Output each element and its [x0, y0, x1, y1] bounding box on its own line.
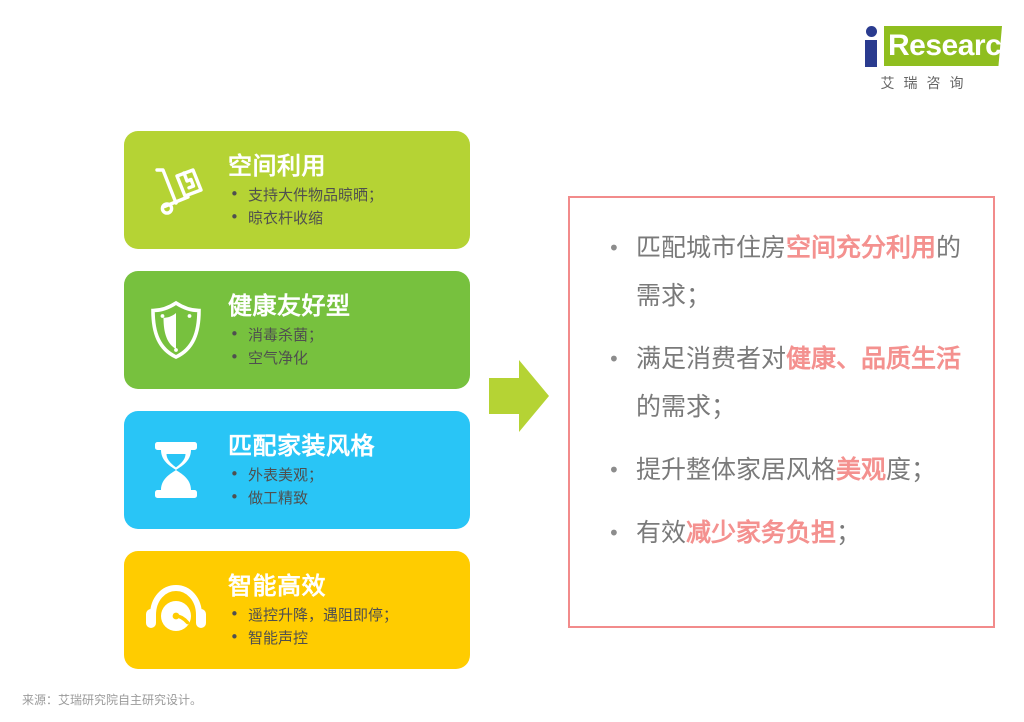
hand-truck-icon	[124, 131, 228, 249]
logo-wordmark: Research	[888, 28, 1019, 64]
feature-card-title: 健康友好型	[228, 291, 460, 321]
logo-chinese-name: 艾瑞咨询	[842, 73, 1002, 93]
list-item: 空气净化	[228, 347, 460, 370]
list-item: 遥控升降，遇阻即停；	[228, 604, 460, 627]
body-text: 匹配城市住房	[636, 233, 786, 262]
body-text: 的需求；	[636, 392, 736, 421]
feature-card-bullets: 遥控升降，遇阻即停； 智能声控	[228, 604, 460, 650]
feature-card-body: 空间利用 支持大件物品晾晒； 晾衣杆收缩	[228, 151, 470, 230]
body-text: 有效	[636, 518, 686, 547]
list-item: 有效减少家务负担；	[592, 509, 975, 557]
right-arrow-icon	[489, 360, 549, 432]
highlight-text: 减少家务负担	[686, 518, 836, 547]
list-item: 智能声控	[228, 627, 460, 650]
feature-card[interactable]: 健康友好型 消毒杀菌； 空气净化	[124, 271, 470, 389]
highlight-text: 空间充分利用	[786, 233, 936, 262]
feature-card-list: 空间利用 支持大件物品晾晒； 晾衣杆收缩 健康友好型 消毒杀菌； 空气净化	[124, 131, 470, 691]
hourglass-icon	[124, 411, 228, 529]
list-item: 做工精致	[228, 487, 460, 510]
list-item: 晾衣杆收缩	[228, 207, 460, 230]
list-item: 支持大件物品晾晒；	[228, 184, 460, 207]
list-item: 外表美观；	[228, 464, 460, 487]
feature-card[interactable]: 匹配家装风格 外表美观； 做工精致	[124, 411, 470, 529]
body-text: 提升整体家居风格	[636, 455, 836, 484]
list-item: 提升整体家居风格美观度；	[592, 446, 975, 494]
feature-card-bullets: 消毒杀菌； 空气净化	[228, 324, 460, 370]
feature-card-title: 空间利用	[228, 151, 460, 181]
logo-mark: Research	[862, 22, 1002, 67]
feature-card-title: 匹配家装风格	[228, 431, 460, 461]
list-item: 匹配城市住房空间充分利用的需求；	[592, 224, 975, 320]
source-note: 来源：艾瑞研究院自主研究设计。	[22, 691, 202, 708]
feature-card-bullets: 外表美观； 做工精致	[228, 464, 460, 510]
highlight-text: 健康、品质生活	[786, 344, 961, 373]
iresearch-logo: Research 艾瑞咨询	[842, 22, 1002, 97]
shield-icon	[124, 271, 228, 389]
feature-card-bullets: 支持大件物品晾晒； 晾衣杆收缩	[228, 184, 460, 230]
body-text: 满足消费者对	[636, 344, 786, 373]
feature-card[interactable]: 智能高效 遥控升降，遇阻即停； 智能声控	[124, 551, 470, 669]
logo-i-dot-icon	[866, 26, 877, 37]
body-text: ；	[836, 518, 861, 547]
logo-i-stem-icon	[865, 40, 877, 67]
benefits-list: 匹配城市住房空间充分利用的需求； 满足消费者对健康、品质生活的需求； 提升整体家…	[592, 224, 975, 557]
body-text: 度；	[886, 455, 936, 484]
list-item: 满足消费者对健康、品质生活的需求；	[592, 335, 975, 431]
feature-card-body: 智能高效 遥控升降，遇阻即停； 智能声控	[228, 571, 470, 650]
list-item: 消毒杀菌；	[228, 324, 460, 347]
highlight-text: 美观	[836, 455, 886, 484]
feature-card[interactable]: 空间利用 支持大件物品晾晒； 晾衣杆收缩	[124, 131, 470, 249]
feature-card-body: 健康友好型 消毒杀菌； 空气净化	[228, 291, 470, 370]
feature-card-title: 智能高效	[228, 571, 460, 601]
benefits-panel: 匹配城市住房空间充分利用的需求； 满足消费者对健康、品质生活的需求； 提升整体家…	[568, 196, 995, 628]
headset-icon	[124, 551, 228, 669]
feature-card-body: 匹配家装风格 外表美观； 做工精致	[228, 431, 470, 510]
